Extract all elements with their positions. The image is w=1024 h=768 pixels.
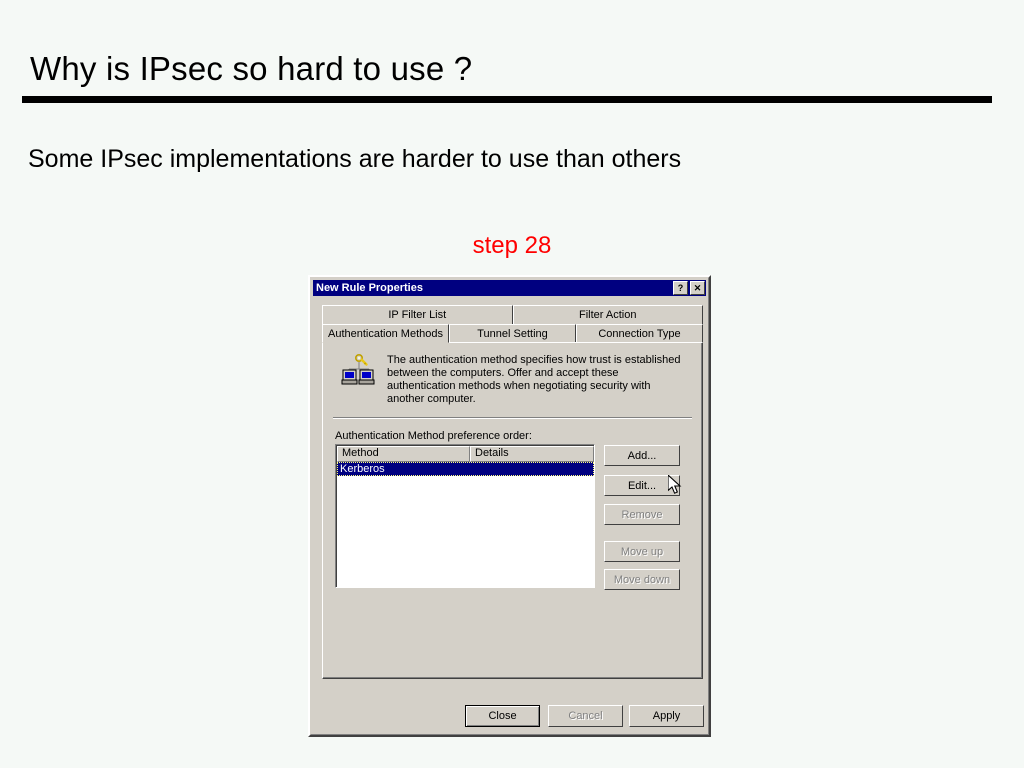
listview-header: Method Details bbox=[337, 446, 594, 462]
close-button[interactable]: Close bbox=[465, 705, 540, 727]
dialog-title-text: New Rule Properties bbox=[316, 282, 671, 294]
cancel-button: Cancel bbox=[548, 705, 623, 727]
description-text: The authentication method specifies how … bbox=[387, 353, 689, 406]
cancel-button-label: Cancel bbox=[549, 706, 622, 726]
close-button-label: Close bbox=[466, 706, 539, 726]
tab-strip: IP Filter List Filter Action Authenticat… bbox=[322, 305, 703, 343]
column-header-method[interactable]: Method bbox=[337, 446, 470, 462]
add-button-label: Add... bbox=[605, 446, 679, 465]
new-rule-properties-dialog: New Rule Properties ? ✕ IP Filter List F… bbox=[308, 275, 711, 737]
two-computers-key-icon bbox=[341, 353, 375, 387]
tab-panel-inner: The authentication method specifies how … bbox=[323, 343, 702, 678]
move-up-button: Move up bbox=[604, 541, 680, 562]
move-up-button-label: Move up bbox=[605, 542, 679, 561]
remove-button-label: Remove bbox=[605, 505, 679, 524]
tab-tunnel-setting[interactable]: Tunnel Setting bbox=[449, 324, 576, 343]
tab-ip-filter-list[interactable]: IP Filter List bbox=[322, 305, 513, 324]
tab-row-bottom: Authentication Methods Tunnel Setting Co… bbox=[322, 324, 703, 343]
authentication-methods-listview[interactable]: Method Details Kerberos bbox=[335, 444, 595, 588]
help-icon[interactable]: ? bbox=[673, 281, 688, 295]
apply-button-label: Apply bbox=[630, 706, 703, 726]
description-separator bbox=[333, 417, 692, 419]
page-title: Why is IPsec so hard to use ? bbox=[30, 50, 472, 88]
tab-connection-type[interactable]: Connection Type bbox=[576, 324, 703, 343]
description-block: The authentication method specifies how … bbox=[341, 353, 689, 406]
add-button[interactable]: Add... bbox=[604, 445, 680, 466]
tab-row-top: IP Filter List Filter Action bbox=[322, 305, 703, 324]
table-row[interactable]: Kerberos bbox=[337, 462, 594, 476]
remove-button: Remove bbox=[604, 504, 680, 525]
tab-panel-authentication-methods: The authentication method specifies how … bbox=[322, 342, 703, 679]
edit-button-label: Edit... bbox=[605, 476, 679, 495]
apply-button[interactable]: Apply bbox=[629, 705, 704, 727]
column-header-details[interactable]: Details bbox=[470, 446, 594, 462]
tab-filter-action[interactable]: Filter Action bbox=[513, 305, 704, 324]
slide-subtitle: Some IPsec implementations are harder to… bbox=[28, 145, 681, 174]
move-down-button-label: Move down bbox=[605, 570, 679, 589]
list-caption: Authentication Method preference order: bbox=[335, 430, 532, 442]
close-icon[interactable]: ✕ bbox=[690, 281, 705, 295]
title-divider bbox=[22, 96, 992, 103]
cell-method: Kerberos bbox=[337, 463, 470, 475]
tab-authentication-methods[interactable]: Authentication Methods bbox=[322, 324, 449, 343]
edit-button[interactable]: Edit... bbox=[604, 475, 680, 496]
dialog-inner-frame: New Rule Properties ? ✕ IP Filter List F… bbox=[310, 277, 709, 735]
listview-inner: Method Details Kerberos bbox=[336, 445, 594, 587]
dialog-titlebar[interactable]: New Rule Properties ? ✕ bbox=[313, 280, 706, 296]
move-down-button: Move down bbox=[604, 569, 680, 590]
step-label: step 28 bbox=[0, 232, 1024, 260]
